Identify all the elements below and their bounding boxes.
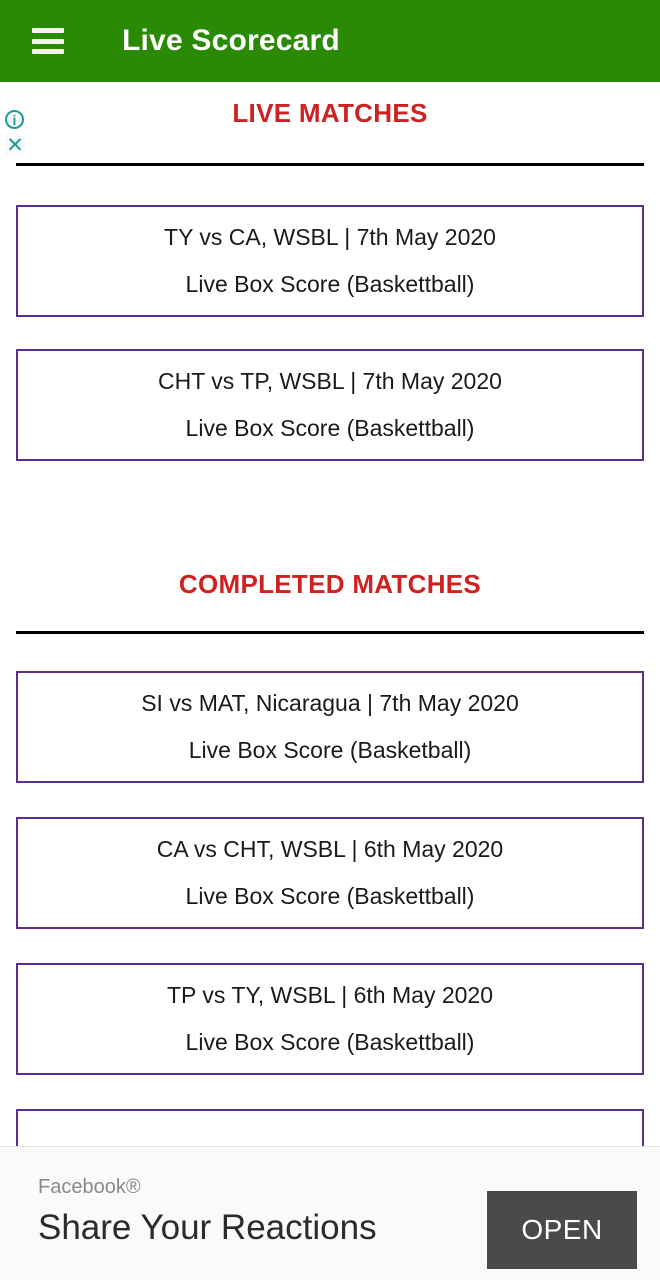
ad-advertiser-name: Facebook®	[38, 1177, 377, 1197]
match-title: CHT vs TP, WSBL | 7th May 2020	[158, 369, 502, 394]
match-subtitle: Live Box Score (Basketball)	[189, 738, 472, 763]
match-card[interactable]: CA vs CHT, WSBL | 6th May 2020 Live Box …	[16, 817, 644, 929]
ad-banner[interactable]: Facebook® Share Your Reactions OPEN	[0, 1146, 660, 1280]
app-bar: Live Scorecard	[0, 0, 660, 82]
match-title: SI vs MAT, Nicaragua | 7th May 2020	[141, 691, 519, 716]
match-title: TP vs TY, WSBL | 6th May 2020	[167, 983, 493, 1008]
live-matches-list: TY vs CA, WSBL | 7th May 2020 Live Box S…	[0, 205, 660, 461]
ad-text-block: Facebook® Share Your Reactions	[38, 1177, 377, 1245]
match-card[interactable]: SI vs MAT, Nicaragua | 7th May 2020 Live…	[16, 671, 644, 783]
ad-close-icon[interactable]: ✕	[5, 136, 25, 156]
ad-info-icon[interactable]: i	[5, 110, 24, 129]
match-subtitle: Live Box Score (Baskettball)	[186, 1030, 475, 1055]
page-title: Live Scorecard	[122, 24, 340, 58]
section-spacer	[0, 461, 660, 569]
match-title: CA vs CHT, WSBL | 6th May 2020	[157, 837, 503, 862]
scroll-content[interactable]: LIVE MATCHES TY vs CA, WSBL | 7th May 20…	[0, 82, 660, 1280]
match-subtitle: Live Box Score (Baskettball)	[186, 884, 475, 909]
section-heading-completed: COMPLETED MATCHES	[0, 569, 660, 600]
hamburger-bar-3	[32, 49, 64, 54]
completed-matches-list: SI vs MAT, Nicaragua | 7th May 2020 Live…	[0, 671, 660, 1221]
match-card[interactable]: TP vs TY, WSBL | 6th May 2020 Live Box S…	[16, 963, 644, 1075]
hamburger-bar-1	[32, 28, 64, 33]
section-divider-completed	[16, 631, 644, 634]
match-title: TY vs CA, WSBL | 7th May 2020	[164, 225, 496, 250]
section-divider-live	[16, 163, 644, 166]
hamburger-bar-2	[32, 39, 64, 44]
ad-open-button[interactable]: OPEN	[487, 1191, 637, 1269]
match-subtitle: Live Box Score (Baskettball)	[186, 416, 475, 441]
match-card[interactable]: TY vs CA, WSBL | 7th May 2020 Live Box S…	[16, 205, 644, 317]
hamburger-menu-icon[interactable]	[32, 28, 64, 54]
ad-headline: Share Your Reactions	[38, 1210, 377, 1245]
match-card[interactable]: CHT vs TP, WSBL | 7th May 2020 Live Box …	[16, 349, 644, 461]
section-heading-live: LIVE MATCHES	[0, 98, 660, 129]
match-subtitle: Live Box Score (Baskettball)	[186, 272, 475, 297]
